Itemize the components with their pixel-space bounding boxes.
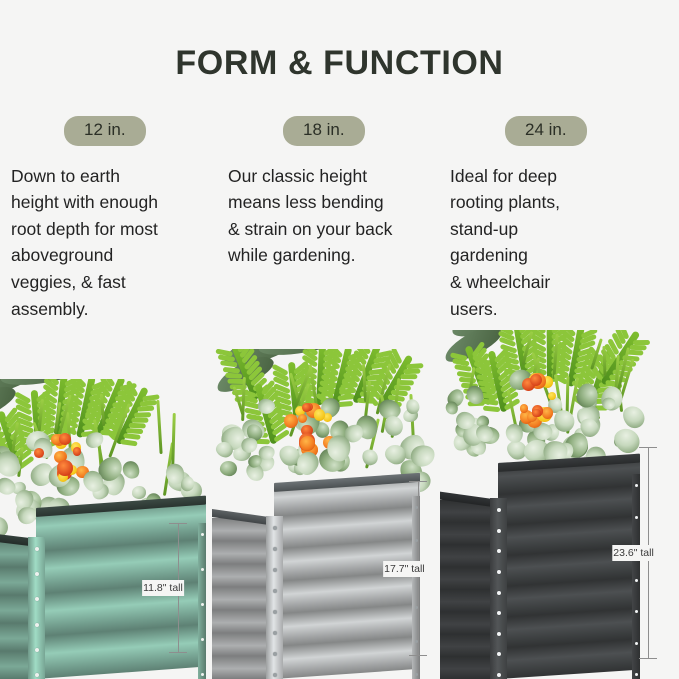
foliage-ivy-leaf bbox=[525, 428, 547, 452]
foliage-ivy-leaf bbox=[288, 447, 308, 469]
planter-rivet bbox=[35, 547, 39, 551]
foliage-ivy-leaf bbox=[383, 414, 405, 438]
foliage-ivy-leaf bbox=[243, 421, 264, 443]
foliage-flower bbox=[73, 447, 81, 455]
planter-rivet bbox=[497, 632, 501, 636]
foliage-leaf bbox=[440, 330, 505, 367]
foliage-ivy-leaf bbox=[461, 422, 485, 448]
foliage-ivy-leaf bbox=[548, 397, 562, 413]
foliage-grass bbox=[380, 394, 392, 426]
foliage-ivy-leaf bbox=[255, 454, 276, 473]
foliage-ivy-leaf bbox=[327, 418, 351, 444]
foliage-flower bbox=[301, 442, 315, 456]
foliage-leaf bbox=[0, 379, 87, 389]
foliage-ivy-leaf bbox=[286, 459, 303, 475]
feature-description-24in: Ideal for deep rooting plants, stand-up … bbox=[450, 163, 665, 323]
foliage-frond bbox=[353, 349, 379, 402]
foliage-ivy-leaf bbox=[258, 445, 276, 461]
foliage-ivy-leaf bbox=[531, 421, 554, 443]
foliage-flower bbox=[529, 373, 542, 386]
foliage-ivy-leaf bbox=[25, 430, 51, 454]
foliage-frond bbox=[288, 362, 298, 424]
foliage-grass bbox=[17, 447, 24, 477]
foliage-flower bbox=[548, 392, 556, 400]
foliage-ivy-leaf bbox=[163, 462, 187, 487]
foliage-ivy-leaf bbox=[327, 436, 350, 462]
foliage-ivy-leaf bbox=[83, 429, 106, 451]
foliage-frond bbox=[465, 346, 490, 405]
foliage-ivy-leaf bbox=[573, 381, 600, 410]
dimension-cap-bottom bbox=[639, 658, 657, 659]
foliage-ivy-leaf bbox=[329, 449, 353, 474]
foliage-frond bbox=[586, 351, 609, 411]
foliage-grass bbox=[531, 353, 554, 409]
foliage-ivy-leaf bbox=[614, 435, 628, 448]
planter-rivet bbox=[201, 673, 204, 676]
foliage-ivy-leaf bbox=[13, 488, 34, 511]
foliage-ivy-leaf bbox=[179, 475, 195, 492]
foliage-flower bbox=[56, 451, 67, 462]
foliage-frond bbox=[0, 411, 20, 471]
plant-cluster-18in bbox=[212, 349, 442, 494]
foliage-frond bbox=[513, 330, 527, 383]
foliage-ivy-leaf bbox=[445, 386, 468, 409]
foliage-frond bbox=[567, 330, 582, 386]
foliage-ivy-leaf bbox=[94, 453, 127, 486]
dimension-label-24in: 23.6" tall bbox=[612, 545, 655, 561]
foliage-ivy-leaf bbox=[474, 413, 491, 431]
foliage-ivy-leaf bbox=[167, 469, 193, 493]
planter-corner-post bbox=[266, 516, 283, 679]
feature-columns: 12 in. Down to earth height with enough … bbox=[0, 116, 679, 336]
planter-rivet bbox=[201, 638, 204, 641]
planter-box-18in bbox=[212, 484, 420, 679]
foliage-flower bbox=[76, 466, 89, 479]
planter-rivet bbox=[201, 533, 204, 536]
foliage-grass bbox=[552, 334, 558, 379]
foliage-flower bbox=[532, 405, 544, 417]
foliage-grass bbox=[163, 442, 174, 495]
foliage-grass bbox=[10, 422, 19, 460]
dimension-line-12in: 11.8" tall bbox=[158, 523, 198, 653]
size-badge-18in: 18 in. bbox=[283, 116, 365, 146]
foliage-ivy-leaf bbox=[313, 420, 332, 440]
foliage-grass bbox=[298, 413, 315, 451]
foliage-flower bbox=[522, 378, 535, 391]
foliage-ivy-leaf bbox=[455, 411, 477, 431]
dimension-line-24in: 23.6" tall bbox=[628, 447, 668, 659]
foliage-ivy-leaf bbox=[132, 486, 146, 499]
infographic-root: FORM & FUNCTION 12 in. Down to earth hei… bbox=[0, 0, 679, 679]
foliage-ivy-leaf bbox=[231, 443, 253, 463]
foliage-ivy-leaf bbox=[578, 411, 598, 431]
planter-rivet bbox=[35, 648, 39, 652]
foliage-ivy-leaf bbox=[541, 421, 562, 443]
foliage-flower bbox=[59, 433, 71, 445]
foliage-ivy-leaf bbox=[466, 439, 482, 457]
foliage-grass bbox=[32, 422, 48, 460]
foliage-ivy-leaf bbox=[507, 367, 534, 392]
foliage-flower bbox=[323, 413, 332, 422]
planter-rivet bbox=[273, 589, 277, 593]
foliage-ivy-leaf bbox=[44, 460, 75, 492]
foliage-ivy-leaf bbox=[478, 426, 500, 447]
foliage-grass bbox=[507, 389, 521, 442]
foliage-flower bbox=[323, 436, 336, 449]
foliage-flower bbox=[300, 436, 315, 451]
planter-rivet bbox=[201, 603, 204, 606]
foliage-grass bbox=[617, 347, 630, 390]
foliage-grass bbox=[295, 366, 313, 407]
foliage-ivy-leaf bbox=[275, 441, 303, 469]
foliage-ivy-leaf bbox=[293, 461, 306, 475]
feature-column-18in: 18 in. Our classic height means less ben… bbox=[228, 116, 443, 269]
foliage-flower bbox=[304, 443, 318, 457]
product-photo-row: 11.8" tall 17.7" tall 23.6" tall bbox=[0, 330, 679, 679]
dimension-label-12in: 11.8" tall bbox=[142, 580, 184, 596]
planter-rivet bbox=[35, 623, 39, 627]
foliage-grass bbox=[365, 419, 380, 469]
foliage-ivy-leaf bbox=[504, 423, 525, 445]
foliage-flower bbox=[57, 466, 72, 481]
foliage-grass bbox=[99, 394, 104, 426]
foliage-ivy-leaf bbox=[119, 458, 142, 481]
foliage-leaf bbox=[448, 330, 530, 342]
foliage-grass bbox=[309, 364, 321, 422]
foliage-frond bbox=[600, 331, 638, 385]
foliage-flower bbox=[520, 404, 528, 412]
foliage-flower bbox=[299, 436, 314, 451]
foliage-ivy-leaf bbox=[293, 449, 321, 479]
foliage-flower bbox=[299, 433, 315, 449]
foliage-flower bbox=[54, 451, 66, 463]
foliage-ivy-leaf bbox=[575, 402, 602, 430]
foliage-leaf bbox=[0, 379, 44, 402]
foliage-grass bbox=[529, 357, 540, 387]
foliage-flower bbox=[67, 465, 77, 475]
foliage-grass bbox=[362, 364, 367, 402]
planter-corner-post bbox=[490, 498, 507, 679]
foliage-flower bbox=[527, 412, 537, 422]
foliage-flower bbox=[51, 434, 62, 445]
planter-rivet bbox=[201, 568, 204, 571]
foliage-ivy-leaf bbox=[551, 407, 577, 435]
planter-rivet bbox=[497, 529, 501, 533]
foliage-flower bbox=[302, 403, 311, 412]
foliage-grass bbox=[409, 394, 415, 454]
page-title: FORM & FUNCTION bbox=[0, 44, 679, 83]
foliage-ivy-leaf bbox=[297, 438, 318, 461]
foliage-ivy-leaf bbox=[444, 400, 459, 416]
foliage-ivy-leaf bbox=[517, 413, 541, 435]
foliage-ivy-leaf bbox=[382, 442, 409, 468]
foliage-ivy-leaf bbox=[579, 394, 599, 413]
product-photo-24in bbox=[440, 330, 660, 679]
foliage-ivy-leaf bbox=[401, 407, 419, 424]
foliage-ivy-leaf bbox=[360, 447, 381, 468]
foliage-ivy-leaf bbox=[217, 420, 249, 452]
foliage-ivy-leaf bbox=[574, 406, 594, 427]
foliage-flower bbox=[58, 472, 68, 482]
planter-rivet bbox=[273, 610, 277, 614]
size-badge-12in: 12 in. bbox=[64, 116, 146, 146]
foliage-ivy-leaf bbox=[238, 416, 268, 445]
foliage-ivy-leaf bbox=[0, 448, 24, 481]
foliage-ivy-leaf bbox=[102, 470, 127, 497]
foliage-flower bbox=[306, 403, 320, 417]
planter-box-24in bbox=[440, 464, 640, 679]
foliage-flower bbox=[305, 443, 318, 456]
foliage-frond bbox=[547, 330, 551, 383]
foliage-frond bbox=[54, 379, 65, 435]
foliage-flower bbox=[527, 413, 542, 428]
foliage-ivy-leaf bbox=[473, 422, 496, 446]
foliage-ivy-leaf bbox=[214, 440, 235, 460]
foliage-grass bbox=[37, 399, 44, 437]
foliage-ivy-leaf bbox=[450, 429, 476, 455]
planter-rivet bbox=[415, 673, 418, 676]
foliage-ivy-leaf bbox=[243, 460, 267, 485]
foliage-flower bbox=[520, 410, 534, 424]
foliage-flower bbox=[71, 442, 81, 452]
foliage-flower bbox=[305, 403, 313, 411]
planter-rivet bbox=[273, 568, 277, 572]
foliage-grass bbox=[233, 387, 245, 416]
foliage-grass bbox=[109, 403, 131, 457]
foliage-ivy-leaf bbox=[246, 452, 264, 470]
foliage-grass bbox=[380, 406, 388, 433]
planter-rivet bbox=[273, 526, 277, 530]
foliage-grass bbox=[241, 377, 246, 421]
foliage-ivy-leaf bbox=[296, 409, 320, 436]
foliage-frond bbox=[30, 390, 39, 452]
dimension-cap-bottom bbox=[169, 652, 187, 653]
feature-description-18in: Our classic height means less bending & … bbox=[228, 163, 443, 269]
foliage-grass bbox=[584, 382, 600, 420]
planter-rivet bbox=[497, 591, 501, 595]
planter-rivet bbox=[273, 547, 277, 551]
foliage-flower bbox=[525, 379, 534, 388]
foliage-grass bbox=[302, 408, 315, 447]
feature-column-24in: 24 in. Ideal for deep rooting plants, st… bbox=[450, 116, 665, 322]
foliage-frond bbox=[316, 349, 323, 405]
foliage-flower bbox=[537, 407, 552, 422]
feature-description-12in: Down to earth height with enough root de… bbox=[11, 163, 226, 323]
foliage-grass bbox=[289, 372, 306, 420]
foliage-grass bbox=[566, 377, 579, 434]
foliage-ivy-leaf bbox=[0, 475, 19, 498]
foliage-grass bbox=[522, 331, 534, 364]
foliage-flower bbox=[530, 373, 545, 388]
dimension-cap-top bbox=[169, 523, 187, 524]
foliage-ivy-leaf bbox=[31, 435, 56, 461]
foliage-grass bbox=[66, 412, 73, 465]
foliage-grass bbox=[363, 381, 371, 420]
foliage-grass bbox=[391, 378, 401, 438]
foliage-leaf bbox=[220, 349, 302, 372]
foliage-ivy-leaf bbox=[376, 397, 403, 423]
foliage-flower bbox=[53, 434, 65, 446]
foliage-ivy-leaf bbox=[89, 480, 112, 502]
foliage-ivy-leaf bbox=[464, 383, 487, 407]
foliage-ivy-leaf bbox=[57, 476, 80, 497]
foliage-grass bbox=[93, 419, 106, 478]
foliage-leaf bbox=[212, 351, 277, 398]
planter-rivet bbox=[273, 652, 277, 656]
size-badge-24in: 24 in. bbox=[505, 116, 587, 146]
feature-column-12in: 12 in. Down to earth height with enough … bbox=[11, 116, 226, 322]
foliage-frond bbox=[76, 379, 93, 438]
foliage-ivy-leaf bbox=[355, 414, 380, 442]
planter-right-edge bbox=[198, 523, 206, 679]
planter-rivet bbox=[273, 673, 277, 677]
dimension-cap-top bbox=[639, 447, 657, 448]
foliage-ivy-leaf bbox=[599, 384, 625, 412]
foliage-ivy-leaf bbox=[561, 434, 588, 459]
foliage-ivy-leaf bbox=[601, 398, 615, 411]
planter-rivet bbox=[273, 631, 277, 635]
planter-rivet bbox=[35, 597, 39, 601]
foliage-flower bbox=[284, 414, 298, 428]
foliage-ivy-leaf bbox=[318, 395, 344, 421]
planter-rivet bbox=[497, 611, 501, 615]
foliage-flower bbox=[57, 460, 73, 476]
planter-rivet bbox=[497, 549, 501, 553]
foliage-frond bbox=[488, 351, 505, 412]
foliage-grass bbox=[616, 372, 623, 412]
foliage-grass bbox=[566, 376, 570, 417]
foliage-ivy-leaf bbox=[257, 398, 276, 415]
foliage-ivy-leaf bbox=[341, 421, 366, 446]
foliage-flower bbox=[530, 374, 542, 386]
foliage-grass bbox=[554, 374, 565, 428]
foliage-ivy-leaf bbox=[0, 449, 4, 467]
foliage-leaf bbox=[0, 381, 20, 428]
foliage-frond bbox=[95, 379, 123, 435]
planter-rivet bbox=[497, 570, 501, 574]
foliage-ivy-leaf bbox=[409, 442, 437, 468]
foliage-flower bbox=[34, 448, 44, 458]
foliage-ivy-leaf bbox=[469, 436, 488, 456]
foliage-flower bbox=[55, 436, 67, 448]
foliage-ivy-leaf bbox=[217, 422, 250, 454]
planter-rivet bbox=[497, 508, 501, 512]
foliage-flower bbox=[301, 425, 313, 437]
foliage-frond bbox=[230, 349, 257, 400]
foliage-ivy-leaf bbox=[504, 436, 531, 462]
foliage-flower bbox=[533, 374, 544, 385]
foliage-flower bbox=[57, 470, 66, 479]
plant-cluster-24in bbox=[440, 330, 660, 474]
foliage-ivy-leaf bbox=[618, 401, 648, 432]
foliage-flower bbox=[542, 407, 553, 418]
foliage-ivy-leaf bbox=[6, 458, 22, 475]
foliage-leaf bbox=[257, 349, 346, 359]
foliage-ivy-leaf bbox=[80, 467, 108, 496]
planter-corner-post bbox=[28, 537, 45, 679]
foliage-ivy-leaf bbox=[582, 414, 601, 436]
foliage-ivy-leaf bbox=[458, 412, 492, 446]
planter-rivet bbox=[497, 673, 501, 677]
foliage-grass bbox=[55, 394, 71, 444]
foliage-grass bbox=[467, 367, 475, 398]
foliage-grass bbox=[618, 359, 634, 403]
foliage-ivy-leaf bbox=[10, 480, 27, 496]
foliage-ivy-leaf bbox=[404, 398, 421, 416]
foliage-ivy-leaf bbox=[58, 444, 88, 476]
planter-rivet bbox=[35, 572, 39, 576]
foliage-ivy-leaf bbox=[219, 460, 238, 477]
foliage-frond bbox=[331, 349, 349, 407]
foliage-grass bbox=[603, 346, 607, 376]
dimension-cap-bottom bbox=[409, 655, 427, 656]
foliage-flower bbox=[314, 409, 325, 420]
foliage-ivy-leaf bbox=[577, 415, 601, 440]
foliage-flower bbox=[295, 406, 305, 416]
foliage-ivy-leaf bbox=[26, 459, 58, 491]
foliage-frond bbox=[0, 415, 5, 472]
foliage-ivy-leaf bbox=[315, 445, 348, 476]
foliage-flower bbox=[542, 376, 553, 387]
foliage-grass bbox=[590, 338, 603, 370]
foliage-ivy-leaf bbox=[240, 437, 259, 454]
foliage-flower bbox=[298, 414, 307, 423]
dimension-line-18in: 17.7" tall bbox=[398, 481, 438, 656]
foliage-flower bbox=[57, 468, 66, 477]
foliage-frond bbox=[376, 355, 410, 411]
foliage-grass bbox=[98, 443, 104, 478]
foliage-ivy-leaf bbox=[453, 420, 472, 440]
planter-front-panel bbox=[498, 455, 640, 679]
dimension-cap-top bbox=[409, 481, 427, 482]
foliage-ivy-leaf bbox=[291, 408, 320, 434]
foliage-ivy-leaf bbox=[396, 430, 430, 464]
foliage-grass bbox=[156, 400, 162, 454]
foliage-frond bbox=[115, 386, 146, 443]
planter-rivet bbox=[497, 652, 501, 656]
foliage-grass bbox=[614, 355, 620, 408]
dimension-label-18in: 17.7" tall bbox=[383, 561, 426, 577]
planter-rivet bbox=[35, 673, 39, 677]
foliage-grass bbox=[53, 402, 61, 434]
foliage-grass bbox=[375, 364, 390, 415]
foliage-ivy-leaf bbox=[573, 427, 587, 443]
foliage-grass bbox=[289, 383, 310, 437]
planter-rivet bbox=[635, 673, 638, 676]
foliage-ivy-leaf bbox=[0, 442, 17, 476]
foliage-flower bbox=[532, 409, 540, 417]
foliage-grass bbox=[171, 413, 176, 467]
foliage-frond bbox=[255, 383, 276, 444]
